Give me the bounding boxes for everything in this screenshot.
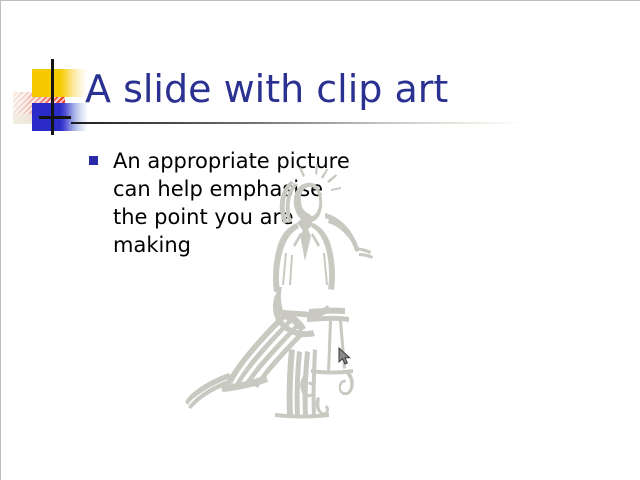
presentation-slide: A slide with clip art An appropriate pic…: [0, 0, 640, 480]
title-underline-rule: [71, 122, 523, 124]
logo-vertical-crosshair: [51, 59, 54, 135]
page-title: A slide with clip art: [85, 67, 605, 111]
logo-yellow-gradient-bar: [60, 69, 88, 97]
bullet-text: An appropriate picture can help emphasis…: [113, 147, 363, 259]
logo-horizontal-crosshair: [39, 116, 71, 119]
slide-body: An appropriate picture can help emphasis…: [89, 147, 389, 259]
square-bullet-icon: [89, 156, 98, 165]
list-item: An appropriate picture can help emphasis…: [89, 147, 389, 259]
arrow-pointer-icon: [338, 347, 352, 367]
logo-yellow-square: [32, 69, 60, 97]
